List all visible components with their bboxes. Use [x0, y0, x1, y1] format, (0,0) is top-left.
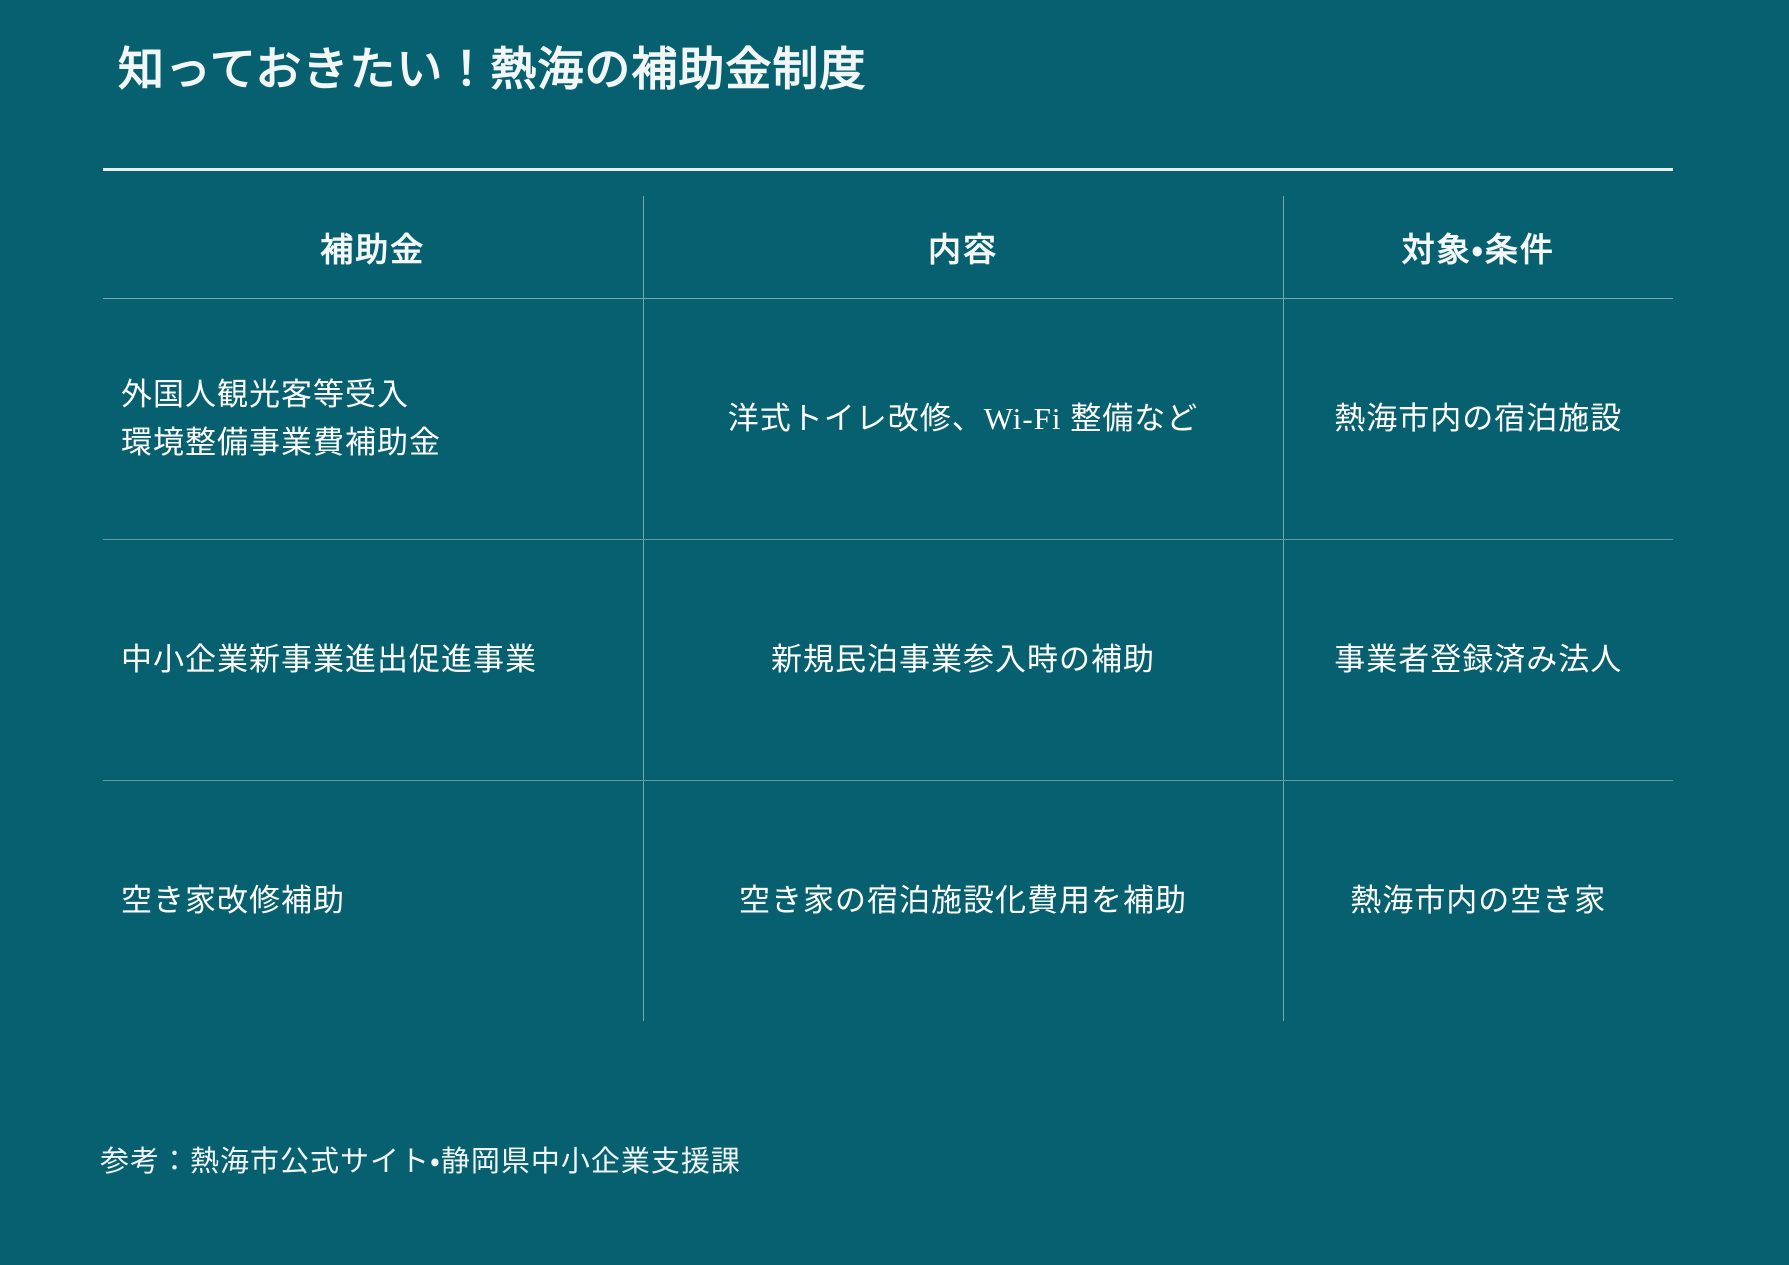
table-header: 補助金 内容 対象・条件: [103, 196, 1673, 299]
cell-content: 新規民泊事業参入時の補助: [643, 540, 1283, 781]
cell-subsidy-name-line1: 中小企業新事業進出促進事業: [121, 636, 643, 684]
title-divider: [103, 168, 1673, 171]
cell-content: 空き家の宿泊施設化費用を補助: [643, 781, 1283, 1022]
table-header-row: 補助金 内容 対象・条件: [103, 196, 1673, 299]
page-title: 知っておきたい！熱海の補助金制度: [118, 42, 866, 97]
table-row: 外国人観光客等受入 環境整備事業費補助金 洋式トイレ改修、Wi-Fi 整備など …: [103, 299, 1673, 540]
table-body: 外国人観光客等受入 環境整備事業費補助金 洋式トイレ改修、Wi-Fi 整備など …: [103, 299, 1673, 1022]
subsidy-table-slide: 知っておきたい！熱海の補助金制度 補助金 内容 対象・条件 外国人観光客等受入 …: [0, 0, 1789, 1265]
table-row: 空き家改修補助 空き家の宿泊施設化費用を補助 熱海市内の空き家: [103, 781, 1673, 1022]
source-note: 参考：熱海市公式サイト・静岡県中小企業支援課: [100, 1138, 741, 1180]
cell-subsidy-name: 中小企業新事業進出促進事業: [103, 540, 643, 781]
cell-subsidy-name: 空き家改修補助: [103, 781, 643, 1022]
cell-subsidy-name-line1: 空き家改修補助: [121, 877, 643, 925]
cell-subsidy-name-line1: 外国人観光客等受入: [121, 371, 643, 419]
cell-target: 事業者登録済み法人: [1283, 540, 1673, 781]
cell-subsidy-name: 外国人観光客等受入 環境整備事業費補助金: [103, 299, 643, 540]
cell-subsidy-name-line2: 環境整備事業費補助金: [121, 419, 643, 467]
cell-content: 洋式トイレ改修、Wi-Fi 整備など: [643, 299, 1283, 540]
column-header-content: 内容: [643, 196, 1283, 299]
cell-target: 熱海市内の宿泊施設: [1283, 299, 1673, 540]
column-header-target: 対象・条件: [1283, 196, 1673, 299]
column-header-subsidy: 補助金: [103, 196, 643, 299]
subsidy-table: 補助金 内容 対象・条件 外国人観光客等受入 環境整備事業費補助金 洋式トイレ改…: [103, 196, 1673, 1021]
table-row: 中小企業新事業進出促進事業 新規民泊事業参入時の補助 事業者登録済み法人: [103, 540, 1673, 781]
cell-target: 熱海市内の空き家: [1283, 781, 1673, 1022]
